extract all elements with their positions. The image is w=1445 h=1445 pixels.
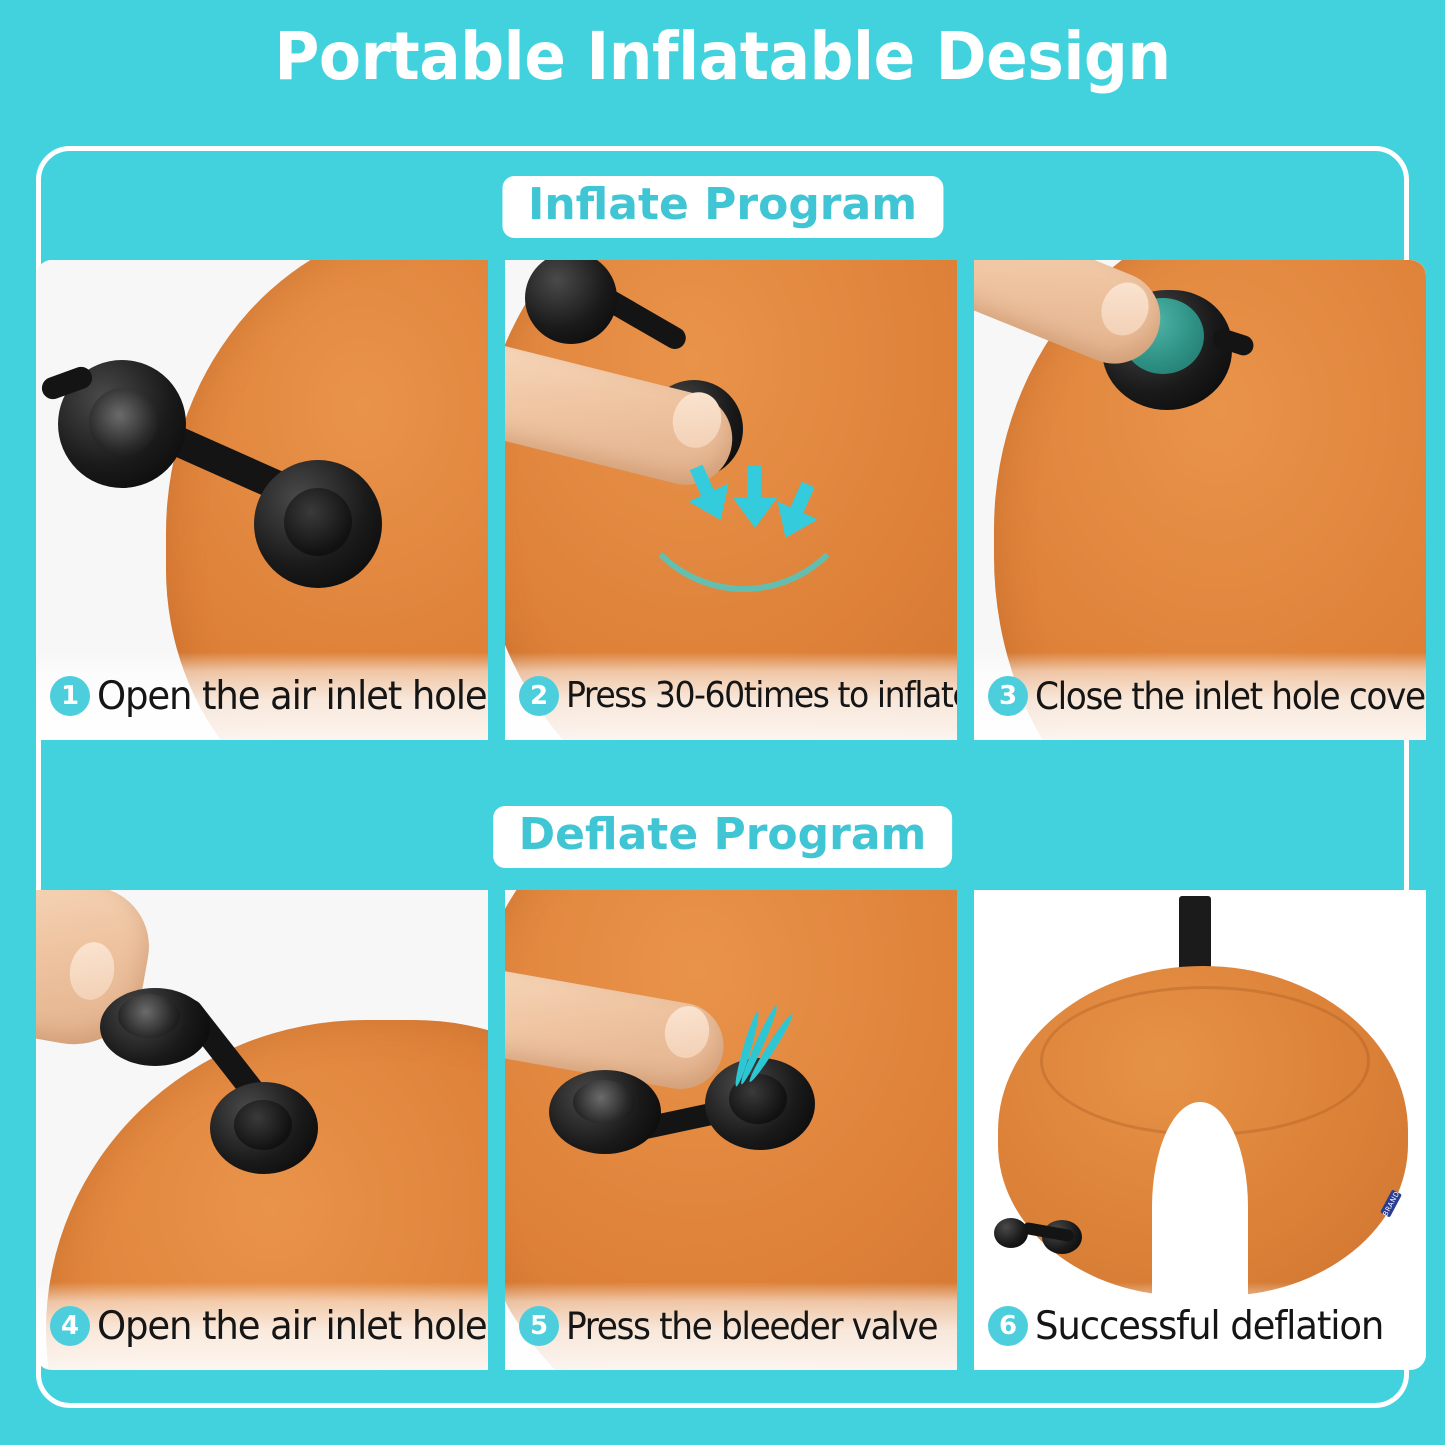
infographic-page: Portable Inflatable Design Inflate Progr… bbox=[0, 0, 1445, 1445]
valve-open-hole bbox=[118, 994, 180, 1038]
hanging-strap bbox=[1179, 896, 1211, 972]
step-4-text: Open the air inlet hole bbox=[97, 1307, 487, 1346]
valve-open-hole bbox=[573, 1080, 635, 1124]
step-6-text: Successful deflation bbox=[1035, 1307, 1383, 1346]
deflate-steps-row: 4 Open the air inlet hole 5 bbox=[36, 890, 1409, 1370]
valve-closed-cap bbox=[234, 1100, 292, 1150]
step-panel-2[interactable]: 2 Press 30-60times to inflate bbox=[505, 260, 957, 740]
step-number-1: 1 bbox=[50, 676, 90, 716]
step-3-text: Close the inlet hole cover bbox=[1035, 678, 1426, 715]
step-panel-5[interactable]: 5 Press the bleeder valve bbox=[505, 890, 957, 1370]
section-badge-deflate: Deflate Program bbox=[493, 806, 953, 868]
step-panel-4[interactable]: 4 Open the air inlet hole bbox=[36, 890, 488, 1370]
press-arc bbox=[623, 350, 865, 592]
step-4-caption: 4 Open the air inlet hole bbox=[36, 1282, 488, 1370]
step-5-caption: 5 Press the bleeder valve bbox=[505, 1282, 957, 1370]
step-number-6: 6 bbox=[988, 1306, 1028, 1346]
valve-open-plug bbox=[994, 1218, 1028, 1248]
step-number-5: 5 bbox=[519, 1306, 559, 1346]
inflate-steps-row: 1 Open the air inlet hole bbox=[36, 260, 1409, 740]
step-2-text: Press 30-60times to inflate bbox=[566, 678, 957, 714]
step-1-caption: 1 Open the air inlet hole bbox=[36, 652, 488, 740]
step-panel-3[interactable]: 3 Close the inlet hole cover bbox=[974, 260, 1426, 740]
step-6-caption: 6 Successful deflation bbox=[974, 1282, 1426, 1370]
valve-closed-cap bbox=[284, 488, 352, 556]
step-number-3: 3 bbox=[988, 676, 1028, 716]
step-5-text: Press the bleeder valve bbox=[566, 1308, 937, 1345]
step-number-4: 4 bbox=[50, 1306, 90, 1346]
valve-open-hole bbox=[89, 388, 157, 456]
section-badge-inflate: Inflate Program bbox=[502, 176, 943, 238]
step-1-text: Open the air inlet hole bbox=[97, 677, 487, 716]
step-number-2: 2 bbox=[519, 676, 559, 716]
step-3-caption: 3 Close the inlet hole cover bbox=[974, 652, 1426, 740]
neck-pillow-opening bbox=[1152, 1102, 1248, 1312]
page-title: Portable Inflatable Design bbox=[51, 24, 1395, 90]
step-panel-1[interactable]: 1 Open the air inlet hole bbox=[36, 260, 488, 740]
step-2-caption: 2 Press 30-60times to inflate bbox=[505, 652, 957, 740]
step-panel-6[interactable]: BRAND 6 Successful deflation bbox=[974, 890, 1426, 1370]
